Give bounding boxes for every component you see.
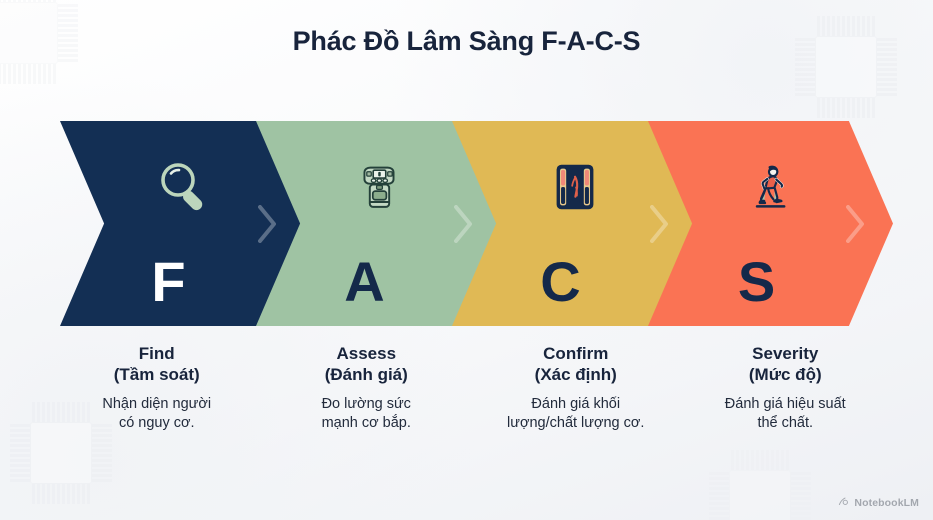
caption-description: Đánh giá hiệu suất thể chất. [689, 395, 883, 434]
body-composition-scan-icon [536, 143, 614, 231]
caption-vi-label: (Xác định) [479, 364, 673, 385]
chevron-right-icon [843, 200, 867, 248]
caption-description-line2: lượng/chất lượng cơ. [507, 415, 644, 431]
caption-description: Đánh giá khối lượng/chất lượng cơ. [479, 395, 673, 434]
caption-en-label: Severity [689, 343, 883, 364]
caption-description: Đo lường sức mạnh cơ bắp. [270, 395, 464, 434]
caption-vi-label: (Tầm soát) [60, 364, 254, 385]
caption-severity: Severity (Mức độ) Đánh giá hiệu suất thể… [681, 343, 891, 463]
facs-chevron-row: F A [60, 121, 878, 326]
walking-person-icon [732, 143, 810, 231]
caption-description-line1: Đánh giá khối [531, 396, 620, 412]
notebooklm-label: NotebookLM [854, 497, 919, 509]
caption-description-line1: Nhận diện người [102, 396, 211, 412]
caption-description-line2: có nguy cơ. [119, 415, 195, 431]
chevron-right-icon [255, 200, 279, 248]
caption-description: Nhận diện người có nguy cơ. [60, 395, 254, 434]
notebooklm-logo-icon [838, 494, 849, 512]
caption-find: Find (Tầm soát) Nhận diện người có nguy … [52, 343, 262, 463]
step-letter: S [648, 254, 893, 310]
page-title: Phác Đồ Lâm Sàng F-A-C-S [0, 26, 933, 57]
caption-description-line2: thể chất. [757, 415, 813, 431]
caption-description-line1: Đo lường sức [322, 396, 411, 412]
caption-description-line2: mạnh cơ bắp. [322, 415, 411, 431]
caption-description-line1: Đánh giá hiệu suất [725, 396, 846, 412]
chevron-right-icon [451, 200, 475, 248]
caption-en-label: Assess [270, 343, 464, 364]
caption-confirm: Confirm (Xác định) Đánh giá khối lượng/c… [471, 343, 681, 463]
magnifying-glass-icon [144, 143, 222, 231]
chevron-right-icon [647, 200, 671, 248]
caption-en-label: Confirm [479, 343, 673, 364]
caption-assess: Assess (Đánh giá) Đo lường sức mạnh cơ b… [262, 343, 472, 463]
step-captions: Find (Tầm soát) Nhận diện người có nguy … [52, 343, 890, 463]
caption-vi-label: (Mức độ) [689, 364, 883, 385]
caption-en-label: Find [60, 343, 254, 364]
notebooklm-watermark: NotebookLM [838, 494, 919, 512]
caption-vi-label: (Đánh giá) [270, 364, 464, 385]
step-chevron-find[interactable]: F [60, 121, 305, 326]
grip-dynamometer-icon [340, 143, 418, 231]
